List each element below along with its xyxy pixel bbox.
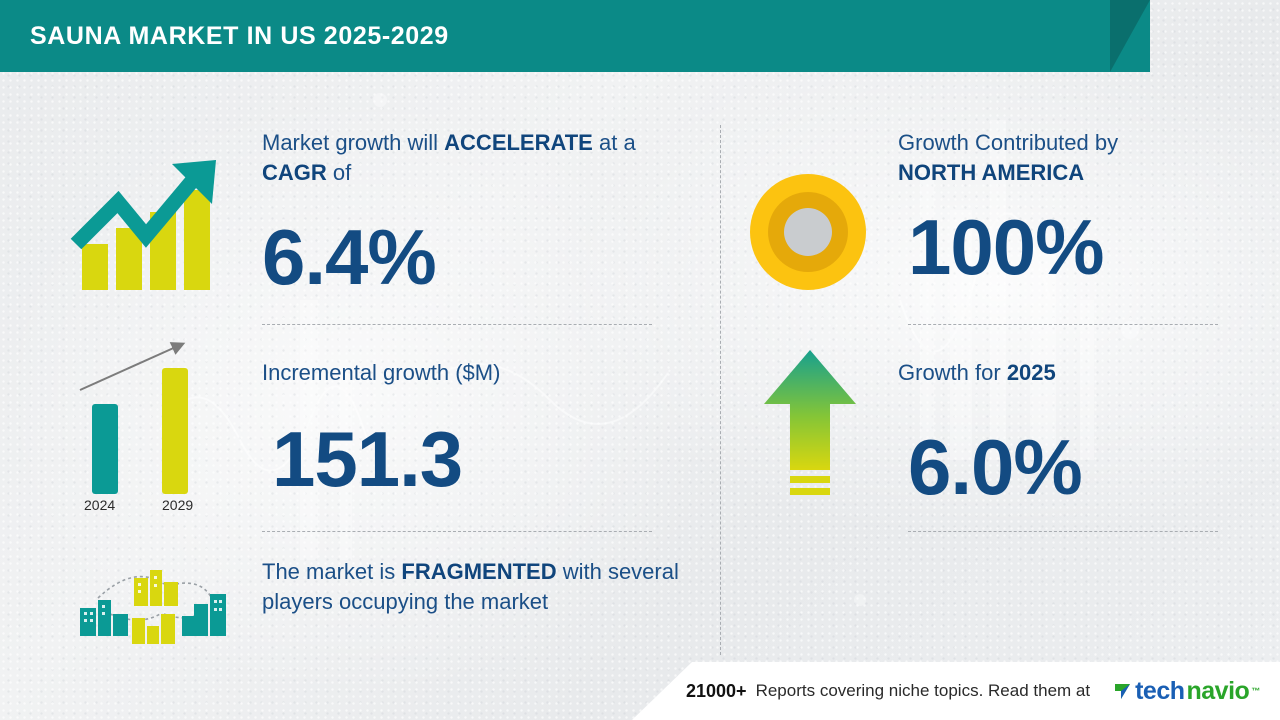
logo-trademark: ™ — [1251, 686, 1260, 696]
technavio-logo[interactable]: technavio™ — [1113, 677, 1260, 706]
footer-tagline: Reports covering niche topics. Read them… — [756, 681, 1091, 701]
page-title: SAUNA MARKET IN US 2025-2029 — [30, 0, 449, 72]
region-caption-bold: NORTH AMERICA — [898, 160, 1084, 185]
divider-right-1 — [908, 324, 1218, 325]
growth-chart-icon — [68, 152, 228, 292]
divider-left-1 — [262, 324, 652, 325]
fragmentation-caption: The market is FRAGMENTED with several pl… — [262, 557, 682, 617]
column-divider — [720, 125, 721, 655]
year-growth-bold: 2025 — [1007, 360, 1056, 385]
footer-report-count: 21000+ — [686, 681, 747, 702]
arrow-up-icon — [760, 348, 860, 503]
incremental-caption: Incremental growth ($M) — [262, 358, 682, 388]
cagr-caption: Market growth will ACCELERATE at a CAGR … — [262, 128, 682, 188]
incremental-value: 151.3 — [272, 420, 462, 498]
fragmentation-bold: FRAGMENTED — [401, 559, 556, 584]
cagr-caption-bold2: CAGR — [262, 160, 327, 185]
divider-right-2 — [908, 531, 1218, 532]
region-caption-text: Growth Contributed by — [898, 130, 1118, 155]
year-growth-value: 6.0% — [908, 428, 1082, 506]
bar-label-2024: 2024 — [84, 497, 115, 513]
technavio-mark-icon — [1113, 680, 1133, 702]
cagr-value: 6.4% — [262, 218, 436, 296]
region-value: 100% — [908, 208, 1104, 286]
city-network-icon — [72, 556, 237, 656]
cagr-caption-bold1: ACCELERATE — [444, 130, 593, 155]
logo-text-navio: navio — [1187, 677, 1250, 706]
logo-text-tech: tech — [1135, 677, 1184, 706]
fragmentation-text1: The market is — [262, 559, 401, 584]
header-fold-corner — [1110, 0, 1150, 72]
region-caption: Growth Contributed byNORTH AMERICA — [898, 128, 1228, 188]
divider-left-2 — [262, 531, 652, 532]
bar-comparison-icon — [70, 332, 220, 522]
footer-content: 21000+ Reports covering niche topics. Re… — [686, 662, 1260, 720]
year-growth-caption: Growth for 2025 — [898, 358, 1228, 388]
cagr-caption-text1: Market growth will — [262, 130, 444, 155]
cagr-caption-text3: of — [327, 160, 351, 185]
year-growth-text: Growth for — [898, 360, 1007, 385]
cagr-caption-text2: at a — [593, 130, 636, 155]
donut-circle-icon — [748, 172, 868, 292]
bar-label-2029: 2029 — [162, 497, 193, 513]
infographic-canvas: SAUNA MARKET IN US 2025-2029 Market grow… — [0, 0, 1280, 720]
